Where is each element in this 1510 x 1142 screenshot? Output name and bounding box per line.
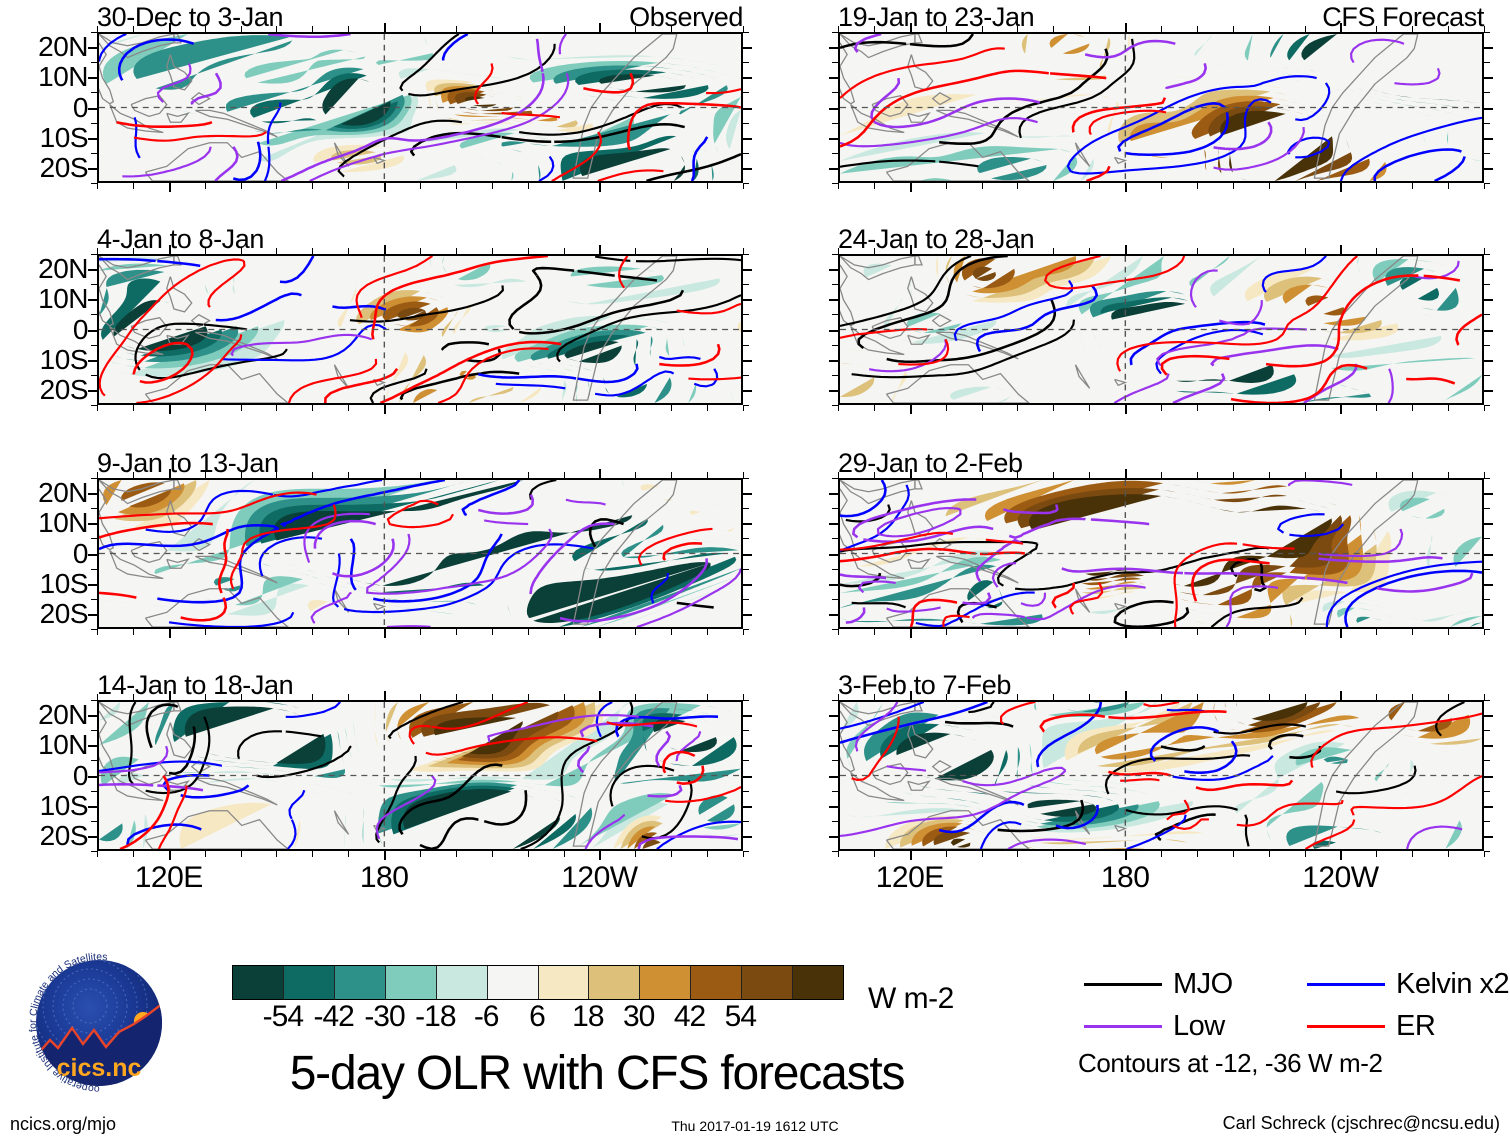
x-tick-minor: [1161, 26, 1162, 32]
x-tick-minor: [1484, 629, 1485, 635]
x-tick-minor: [205, 851, 206, 857]
x-tick-minor: [1053, 851, 1054, 857]
footer-timestamp: Thu 2017-01-19 1612 UTC: [671, 1118, 838, 1134]
x-tick-minor: [348, 851, 349, 857]
x-tick-minor: [671, 694, 672, 700]
olr-cfs-forecast-figure: 30-Dec to 3-JanObserved20N10N010S20S4-Ja…: [0, 0, 1510, 1142]
x-tick: [1125, 691, 1127, 700]
x-tick-minor: [241, 183, 242, 189]
x-tick-minor: [1448, 472, 1449, 478]
y-axis-label: 0: [73, 538, 88, 570]
x-tick-minor: [1376, 26, 1377, 32]
panel-obs-1: 30-Dec to 3-JanObserved20N10N010S20S: [97, 32, 743, 183]
x-tick-minor: [671, 183, 672, 189]
x-tick-minor: [1484, 851, 1485, 857]
x-tick-minor: [1233, 183, 1234, 189]
y-tick-minor: [832, 254, 838, 255]
y-tick-minor: [91, 478, 97, 479]
x-tick-minor: [1017, 629, 1018, 635]
y-tick-minor: [1484, 375, 1490, 376]
x-tick-minor: [97, 405, 98, 411]
x-tick-minor: [874, 472, 875, 478]
y-tick-minor: [832, 821, 838, 822]
olr-field-obs-1: [99, 34, 741, 181]
x-tick-minor: [348, 472, 349, 478]
cics-nc-logo: cics.nc Cooperative Institute for Climat…: [20, 944, 178, 1102]
plot-area-obs-1: [97, 32, 743, 183]
x-tick-minor: [838, 851, 839, 857]
colorbar-segment: [691, 966, 742, 999]
x-tick: [1340, 405, 1342, 414]
y-tick: [743, 584, 752, 586]
x-tick-minor: [707, 851, 708, 857]
x-tick-minor: [492, 629, 493, 635]
x-tick-minor: [1269, 405, 1270, 411]
x-tick: [599, 469, 601, 478]
x-tick: [384, 405, 386, 414]
x-tick-minor: [743, 694, 744, 700]
x-tick-minor: [564, 694, 565, 700]
x-tick-minor: [1305, 851, 1306, 857]
y-tick: [829, 836, 838, 838]
plot-area-obs-2: [97, 254, 743, 405]
x-tick-minor: [1053, 248, 1054, 254]
plot-area-fcst-4: [838, 700, 1484, 851]
y-tick-minor: [743, 730, 749, 731]
y-tick: [743, 614, 752, 616]
x-tick-minor: [133, 851, 134, 857]
y-axis-label: 10S: [40, 568, 88, 600]
y-tick: [743, 360, 752, 362]
x-tick: [384, 245, 386, 254]
x-tick-minor: [564, 405, 565, 411]
legend-swatch-low: [1084, 1025, 1162, 1028]
colorbar: [232, 965, 844, 1000]
x-tick-minor: [1269, 629, 1270, 635]
x-tick-minor: [564, 26, 565, 32]
x-tick-minor: [1053, 629, 1054, 635]
x-tick-minor: [1161, 183, 1162, 189]
x-tick-minor: [528, 26, 529, 32]
x-tick-minor: [528, 405, 529, 411]
legend-swatch-mjo: [1084, 983, 1162, 986]
y-tick: [743, 47, 752, 49]
y-axis-label: 10N: [38, 729, 88, 761]
x-tick-minor: [1053, 183, 1054, 189]
x-tick-minor: [743, 248, 744, 254]
x-tick: [1340, 629, 1342, 638]
y-axis-label: 20S: [40, 598, 88, 630]
x-tick: [384, 183, 386, 192]
y-tick-minor: [743, 599, 749, 600]
x-tick-minor: [982, 405, 983, 411]
x-tick: [1340, 851, 1342, 860]
y-tick-minor: [832, 791, 838, 792]
y-tick-minor: [1484, 760, 1490, 761]
x-tick: [1125, 405, 1127, 414]
x-tick-minor: [635, 629, 636, 635]
x-tick-minor: [1376, 472, 1377, 478]
x-tick-minor: [205, 248, 206, 254]
x-tick-minor: [707, 26, 708, 32]
x-tick: [599, 851, 601, 860]
x-tick-minor: [635, 183, 636, 189]
y-axis-label: 0: [73, 760, 88, 792]
y-tick: [829, 745, 838, 747]
x-tick-minor: [276, 629, 277, 635]
x-tick-minor: [671, 26, 672, 32]
legend-entry-er: ER: [1307, 1010, 1435, 1043]
y-tick-minor: [743, 700, 749, 701]
y-tick: [829, 168, 838, 170]
y-axis-label: 20N: [38, 477, 88, 509]
legend-entry-kelvin: Kelvin x2: [1307, 968, 1509, 1001]
y-axis-label: 20N: [38, 253, 88, 285]
y-tick-minor: [91, 375, 97, 376]
y-tick: [829, 715, 838, 717]
colorbar-segment: [335, 966, 386, 999]
x-tick: [1340, 691, 1342, 700]
y-tick-minor: [91, 569, 97, 570]
x-tick-minor: [671, 248, 672, 254]
x-tick-minor: [97, 629, 98, 635]
y-tick: [1484, 523, 1493, 525]
y-tick: [88, 745, 97, 747]
colorbar-segment: [640, 966, 691, 999]
x-tick-minor: [133, 183, 134, 189]
y-axis-label: 20S: [40, 152, 88, 184]
x-tick-minor: [312, 183, 313, 189]
y-tick-minor: [91, 730, 97, 731]
x-tick-minor: [1269, 26, 1270, 32]
olr-field-fcst-2: [840, 256, 1482, 403]
x-tick-minor: [312, 694, 313, 700]
y-tick: [88, 554, 97, 556]
x-tick-minor: [1448, 248, 1449, 254]
y-tick-minor: [1484, 32, 1490, 33]
x-tick-minor: [1269, 183, 1270, 189]
x-tick-minor: [1269, 248, 1270, 254]
x-tick-minor: [838, 26, 839, 32]
y-tick-minor: [91, 760, 97, 761]
x-tick-minor: [1233, 248, 1234, 254]
x-tick-minor: [564, 183, 565, 189]
y-axis-label: 10N: [38, 283, 88, 315]
y-tick: [1484, 360, 1493, 362]
colorbar-unit-label: W m-2: [868, 982, 954, 1016]
y-tick-minor: [832, 62, 838, 63]
y-axis-label: 10S: [40, 344, 88, 376]
panel-obs-4: 14-Jan to 18-Jan20N10N010S20S: [97, 700, 743, 851]
y-tick: [88, 776, 97, 778]
x-tick-minor: [241, 694, 242, 700]
colorbar-tick-label: 54: [725, 1000, 756, 1034]
x-tick-minor: [276, 248, 277, 254]
x-tick-minor: [838, 694, 839, 700]
x-tick-minor: [1448, 629, 1449, 635]
y-tick: [829, 493, 838, 495]
x-tick: [1340, 23, 1342, 32]
x-tick-minor: [1089, 629, 1090, 635]
y-tick: [743, 523, 752, 525]
y-tick: [88, 360, 97, 362]
x-tick-minor: [635, 851, 636, 857]
panel-fcst-3: 29-Jan to 2-Feb: [838, 478, 1484, 629]
y-tick: [743, 493, 752, 495]
x-tick-minor: [1412, 629, 1413, 635]
legend-label-er: ER: [1396, 1010, 1435, 1043]
x-tick-minor: [1089, 851, 1090, 857]
x-tick-minor: [671, 405, 672, 411]
y-tick: [829, 554, 838, 556]
x-tick-minor: [420, 26, 421, 32]
y-axis-label: 10N: [38, 507, 88, 539]
footer-left[interactable]: ncics.org/mjo: [10, 1114, 116, 1135]
y-tick: [743, 299, 752, 301]
x-tick-minor: [1017, 183, 1018, 189]
y-axis-label: 20S: [40, 820, 88, 852]
y-tick-minor: [743, 375, 749, 376]
colorbar-segment: [539, 966, 590, 999]
x-tick-minor: [528, 629, 529, 635]
colorbar-segment: [589, 966, 640, 999]
x-tick-minor: [635, 248, 636, 254]
y-tick: [1484, 806, 1493, 808]
x-tick-minor: [205, 405, 206, 411]
x-tick-minor: [982, 851, 983, 857]
x-tick-minor: [276, 405, 277, 411]
x-tick: [599, 405, 601, 414]
x-tick-minor: [133, 26, 134, 32]
x-tick: [169, 851, 171, 860]
x-tick-minor: [241, 851, 242, 857]
x-tick-minor: [241, 248, 242, 254]
legend-label-mjo: MJO: [1173, 968, 1233, 1001]
olr-field-obs-2: [99, 256, 741, 403]
x-tick-minor: [1484, 405, 1485, 411]
y-tick-minor: [743, 123, 749, 124]
colorbar-segment: [793, 966, 843, 999]
x-tick-minor: [635, 472, 636, 478]
x-tick-minor: [838, 248, 839, 254]
x-tick-minor: [492, 851, 493, 857]
contour-note: Contours at -12, -36 W m-2: [1078, 1048, 1383, 1079]
y-tick-minor: [1484, 62, 1490, 63]
x-tick-minor: [348, 248, 349, 254]
x-tick-minor: [1448, 405, 1449, 411]
y-tick-minor: [1484, 254, 1490, 255]
colorbar-segment: [742, 966, 793, 999]
x-tick-minor: [420, 183, 421, 189]
y-tick-minor: [91, 62, 97, 63]
y-tick: [1484, 47, 1493, 49]
y-axis-label: 20N: [38, 699, 88, 731]
x-tick-minor: [982, 248, 983, 254]
y-tick: [743, 168, 752, 170]
x-tick-minor: [456, 694, 457, 700]
y-tick-minor: [1484, 92, 1490, 93]
x-tick-minor: [1017, 405, 1018, 411]
x-tick-minor: [671, 472, 672, 478]
x-tick-minor: [133, 405, 134, 411]
x-tick-minor: [1161, 629, 1162, 635]
y-tick: [88, 493, 97, 495]
y-tick-minor: [832, 345, 838, 346]
x-tick-minor: [1376, 851, 1377, 857]
x-tick-minor: [946, 405, 947, 411]
x-tick-minor: [348, 629, 349, 635]
colorbar-tick-label: -30: [364, 1000, 404, 1034]
x-tick-minor: [707, 183, 708, 189]
y-tick-minor: [832, 92, 838, 93]
x-tick-minor: [707, 472, 708, 478]
x-tick-minor: [1448, 851, 1449, 857]
y-tick-minor: [1484, 284, 1490, 285]
x-tick-minor: [707, 405, 708, 411]
panel-fcst-2: 24-Jan to 28-Jan: [838, 254, 1484, 405]
x-tick-minor: [1089, 694, 1090, 700]
main-title: 5-day OLR with CFS forecasts: [290, 1046, 905, 1101]
x-tick-minor: [456, 851, 457, 857]
x-tick-minor: [874, 26, 875, 32]
x-tick-minor: [420, 472, 421, 478]
x-tick-minor: [1197, 26, 1198, 32]
y-tick: [1484, 390, 1493, 392]
y-tick: [1484, 493, 1493, 495]
x-tick-minor: [1089, 472, 1090, 478]
y-tick-minor: [832, 760, 838, 761]
x-tick-minor: [874, 183, 875, 189]
y-tick: [1484, 745, 1493, 747]
x-tick-minor: [1376, 248, 1377, 254]
x-tick: [169, 183, 171, 192]
panel-title-fcst-1: 19-Jan to 23-Jan: [838, 2, 1034, 33]
x-tick-minor: [492, 472, 493, 478]
y-tick: [829, 269, 838, 271]
y-tick-minor: [91, 821, 97, 822]
y-tick-minor: [1484, 314, 1490, 315]
x-tick: [1125, 629, 1127, 638]
colorbar-tick-label: -54: [263, 1000, 303, 1034]
x-tick: [599, 245, 601, 254]
x-tick-minor: [528, 472, 529, 478]
x-tick-minor: [1269, 694, 1270, 700]
y-axis-label: 20S: [40, 374, 88, 406]
x-tick-minor: [1161, 248, 1162, 254]
legend-swatch-er: [1307, 1025, 1385, 1028]
x-tick-minor: [1233, 694, 1234, 700]
y-tick: [88, 614, 97, 616]
panel-title-obs-1: 30-Dec to 3-Jan: [97, 2, 283, 33]
x-tick-minor: [1376, 694, 1377, 700]
y-tick: [1484, 330, 1493, 332]
x-tick-minor: [982, 694, 983, 700]
x-tick-minor: [205, 183, 206, 189]
x-tick: [910, 469, 912, 478]
y-tick-minor: [91, 599, 97, 600]
panel-group-label-left: Observed: [629, 2, 743, 33]
y-tick-minor: [832, 153, 838, 154]
x-tick-minor: [946, 248, 947, 254]
x-tick: [1125, 469, 1127, 478]
x-tick-minor: [241, 26, 242, 32]
y-tick: [829, 614, 838, 616]
x-tick: [910, 245, 912, 254]
y-tick-minor: [1484, 508, 1490, 509]
x-tick-minor: [946, 26, 947, 32]
x-tick-minor: [528, 851, 529, 857]
x-tick-minor: [1412, 472, 1413, 478]
x-axis-label-right: 180: [1101, 861, 1150, 895]
x-tick-minor: [874, 694, 875, 700]
y-tick-minor: [832, 32, 838, 33]
y-tick-minor: [1484, 538, 1490, 539]
y-tick-minor: [91, 123, 97, 124]
x-tick: [1125, 183, 1127, 192]
x-tick: [910, 691, 912, 700]
x-tick-minor: [420, 694, 421, 700]
y-axis-label: 0: [73, 92, 88, 124]
x-tick-minor: [1233, 629, 1234, 635]
x-tick-minor: [1017, 26, 1018, 32]
x-tick-minor: [1448, 26, 1449, 32]
x-tick-minor: [456, 248, 457, 254]
y-axis-label: 10S: [40, 122, 88, 154]
panel-title-obs-3: 9-Jan to 13-Jan: [97, 448, 279, 479]
x-tick-minor: [312, 851, 313, 857]
y-tick: [88, 715, 97, 717]
olr-field-fcst-4: [840, 702, 1482, 849]
y-tick: [829, 776, 838, 778]
y-tick: [829, 523, 838, 525]
y-tick: [829, 584, 838, 586]
x-axis-label-right: 120E: [876, 861, 944, 895]
x-tick-minor: [874, 851, 875, 857]
x-tick-minor: [1053, 26, 1054, 32]
panel-fcst-4: 3-Feb to 7-Feb: [838, 700, 1484, 851]
colorbar-segment: [284, 966, 335, 999]
x-tick: [1340, 245, 1342, 254]
x-tick-minor: [1197, 405, 1198, 411]
x-tick-minor: [982, 472, 983, 478]
x-tick-minor: [492, 26, 493, 32]
panel-title-obs-2: 4-Jan to 8-Jan: [97, 224, 264, 255]
y-tick: [88, 77, 97, 79]
x-tick-minor: [456, 629, 457, 635]
x-tick-minor: [312, 405, 313, 411]
legend-entry-mjo: MJO: [1084, 968, 1233, 1001]
x-tick-minor: [1161, 851, 1162, 857]
y-tick: [743, 108, 752, 110]
y-tick: [88, 836, 97, 838]
x-tick-minor: [1017, 694, 1018, 700]
y-tick: [829, 138, 838, 140]
x-tick-minor: [1197, 183, 1198, 189]
y-axis-label: 10S: [40, 790, 88, 822]
colorbar-tick-label: -6: [474, 1000, 499, 1034]
x-tick: [384, 691, 386, 700]
y-tick: [88, 390, 97, 392]
x-tick-minor: [1233, 26, 1234, 32]
x-tick-minor: [564, 629, 565, 635]
x-tick-minor: [1017, 248, 1018, 254]
x-tick: [910, 183, 912, 192]
y-tick-minor: [743, 791, 749, 792]
x-tick-minor: [241, 629, 242, 635]
x-tick: [384, 851, 386, 860]
x-tick-minor: [671, 851, 672, 857]
y-tick-minor: [91, 538, 97, 539]
